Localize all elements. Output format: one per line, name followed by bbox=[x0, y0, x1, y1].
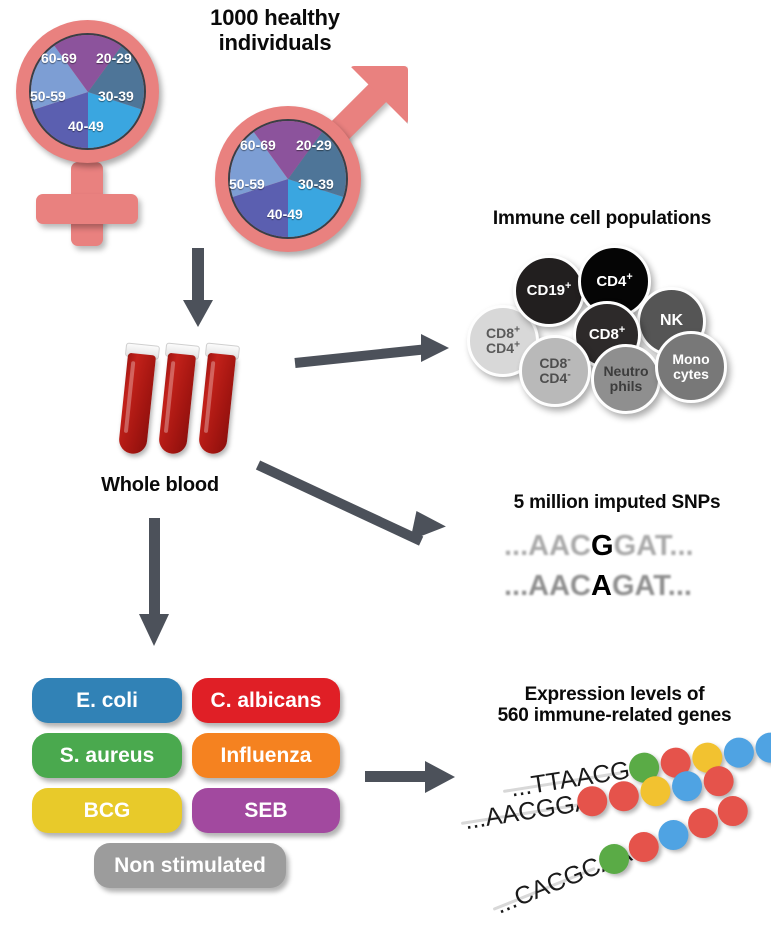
snp-suffix: GAT... bbox=[614, 530, 694, 562]
immune-cell-cluster: CD8+ CD4+ CD19+ CD4+ NK CD8+ CD8- CD4- N… bbox=[465, 243, 760, 413]
stimulus-pill-seb[interactable]: SEB bbox=[192, 788, 340, 833]
female-pie-label-20-29: 20-29 bbox=[96, 50, 132, 66]
female-pie-label-60-69: 60-69 bbox=[41, 50, 77, 66]
immune-cell-populations-heading: Immune cell populations bbox=[452, 208, 752, 229]
male-gender-symbol: 20-29 30-39 40-49 50-59 60-69 bbox=[210, 78, 420, 258]
arrow-cohort-to-blood bbox=[183, 248, 213, 328]
male-pie-label-60-69: 60-69 bbox=[240, 137, 276, 153]
rna-bead bbox=[670, 769, 704, 803]
snp-prefix: ...AAC bbox=[504, 530, 591, 562]
rna-bead bbox=[607, 779, 641, 813]
expression-heading: Expression levels of 560 immune-related … bbox=[462, 684, 767, 727]
stimulus-pill-bcg[interactable]: BCG bbox=[32, 788, 182, 833]
female-pie-label-40-49: 40-49 bbox=[68, 118, 104, 134]
arrow-blood-to-immune-cells bbox=[295, 330, 460, 380]
female-symbol-crossbar bbox=[36, 194, 138, 224]
snp-allele: A bbox=[591, 570, 612, 602]
snp-suffix: GAT... bbox=[612, 570, 692, 602]
male-pie-label-40-49: 40-49 bbox=[267, 206, 303, 222]
cell-circle-cd19pos: CD19+ bbox=[513, 255, 585, 327]
whole-blood-tubes bbox=[105, 340, 255, 460]
snp-prefix: ...AAC bbox=[504, 570, 591, 602]
rna-bead bbox=[701, 764, 735, 798]
diagram-canvas: 1000 healthy individuals 20-29 30-39 40-… bbox=[0, 0, 771, 922]
cell-circle-neutrophils: Neutro phils bbox=[591, 344, 661, 414]
snp-sequence-row: ...AACGGAT... bbox=[504, 530, 694, 563]
cell-circle-monocytes: Mono cytes bbox=[655, 331, 727, 403]
stimulus-pill-influenza[interactable]: Influenza bbox=[192, 733, 340, 778]
rna-bead bbox=[638, 774, 672, 808]
arrow-stimuli-to-expression bbox=[365, 760, 465, 796]
snps-heading: 5 million imputed SNPs bbox=[472, 492, 762, 513]
expression-heading-line1: Expression levels of bbox=[462, 684, 767, 705]
female-pie-label-30-39: 30-39 bbox=[98, 88, 134, 104]
stimulus-pill-e-coli[interactable]: E. coli bbox=[32, 678, 182, 723]
stimulus-pill-non-stimulated[interactable]: Non stimulated bbox=[94, 843, 286, 888]
male-pie-label-30-39: 30-39 bbox=[298, 176, 334, 192]
arrow-blood-to-snps bbox=[258, 452, 463, 552]
whole-blood-label: Whole blood bbox=[60, 474, 260, 496]
stimulus-pill-c-albicans[interactable]: C. albicans bbox=[192, 678, 340, 723]
male-pie-label-20-29: 20-29 bbox=[296, 137, 332, 153]
female-gender-symbol: 20-29 30-39 40-49 50-59 60-69 bbox=[8, 14, 188, 244]
snp-allele: G bbox=[591, 530, 614, 562]
cell-circle-cd8neg-cd4neg: CD8- CD4- bbox=[519, 335, 591, 407]
rna-strands: ...TTAACGG ...AACGGAT ...CACGCAA bbox=[455, 744, 771, 914]
tube-body bbox=[198, 353, 236, 455]
snp-sequence-row: ...AACAGAT... bbox=[504, 570, 692, 603]
page-title-line2: individuals bbox=[165, 31, 385, 56]
page-title: 1000 healthy individuals bbox=[165, 6, 385, 55]
arrow-blood-to-stimuli bbox=[138, 518, 174, 650]
page-title-line1: 1000 healthy bbox=[165, 6, 385, 31]
snp-sequences: ...AACGGAT... ...AACAGAT... bbox=[480, 528, 760, 613]
male-pie-label-50-59: 50-59 bbox=[229, 176, 265, 192]
stimuli-panel: E. coli C. albicans S. aureus Influenza … bbox=[32, 678, 342, 893]
rna-bead bbox=[753, 730, 771, 764]
stimulus-pill-s-aureus[interactable]: S. aureus bbox=[32, 733, 182, 778]
female-pie-label-50-59: 50-59 bbox=[30, 88, 66, 104]
expression-heading-line2: 560 immune-related genes bbox=[462, 705, 767, 726]
